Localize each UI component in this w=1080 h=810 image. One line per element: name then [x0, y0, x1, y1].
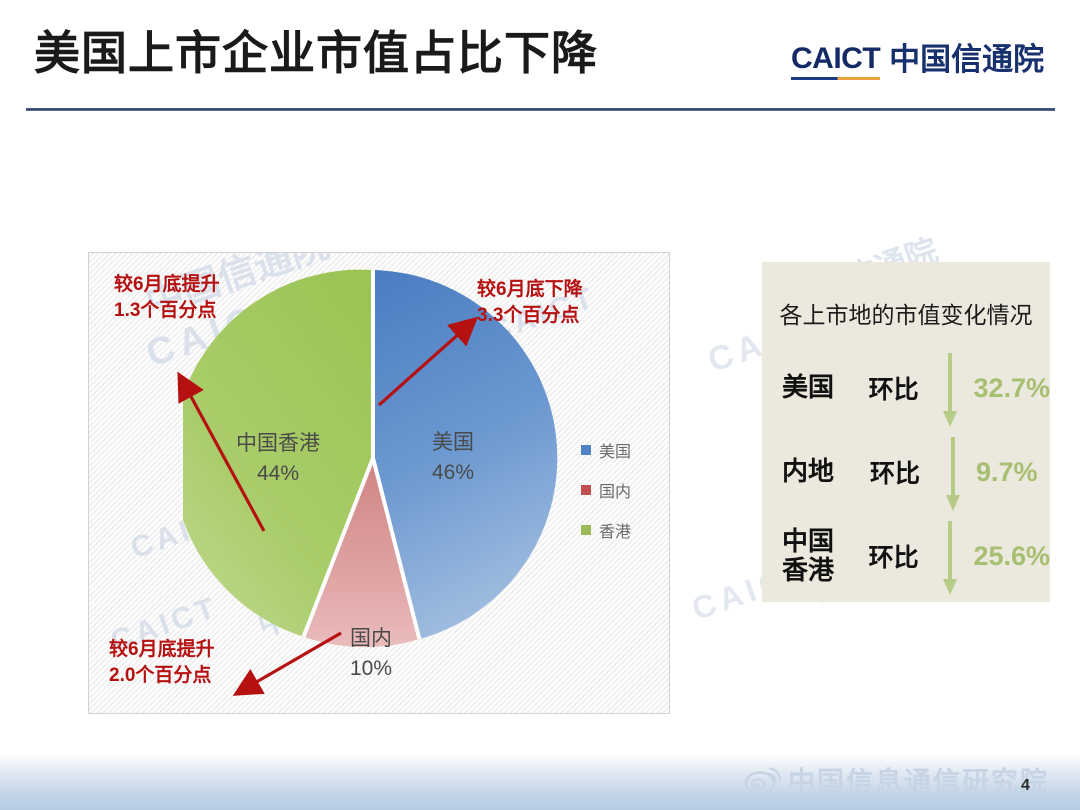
pie-chart-panel: 中国信通院 CAICT CAICT 中国信通院 CAICT 中国信通院 CAIC… [88, 252, 670, 714]
legend-item-us: 美国 [581, 438, 631, 462]
slice-label-hk: 中国香港 44% [219, 429, 337, 490]
annotation-mainland-line2: 2.0个百分点 [109, 663, 215, 689]
legend-swatch-icon [581, 525, 591, 535]
annotation-hk-line2: 1.3个百分点 [114, 298, 220, 324]
annotation-us: 较6月底下降 3.3个百分点 [477, 277, 583, 328]
annotation-hk: 较6月底提升 1.3个百分点 [114, 272, 220, 323]
annotation-us-line2: 3.3个百分点 [477, 303, 583, 329]
legend-label-us: 美国 [599, 438, 631, 462]
title-divider [26, 108, 1055, 111]
down-arrow-icon [944, 435, 970, 509]
down-arrow-icon [941, 351, 967, 425]
row-place-us: 美国 [762, 373, 869, 402]
annotation-hk-line1: 较6月底提升 [114, 272, 220, 298]
chart-legend: 美国 国内 香港 [581, 438, 631, 558]
row-place-hk-line1: 中国 [782, 527, 869, 556]
table-row: 中国 香港 环比 25.6% [762, 514, 1050, 598]
row-place-hk-line2: 香港 [782, 556, 869, 585]
logo-chinese-text: 中国信通院 [889, 44, 1044, 75]
legend-swatch-icon [581, 485, 591, 495]
row-value-hk: 25.6% [967, 541, 1050, 572]
row-value-us: 32.7% [967, 373, 1050, 404]
footer-watermark: 中国信息通信研究院 [745, 760, 1049, 799]
slice-label-mainland: 国内 10% [329, 624, 413, 685]
row-kind-hk: 环比 [869, 538, 942, 574]
annotation-mainland: 较6月底提升 2.0个百分点 [109, 637, 215, 688]
down-arrow-icon [941, 519, 967, 593]
annotation-us-line1: 较6月底下降 [477, 277, 583, 303]
row-place-hk: 中国 香港 [762, 527, 869, 585]
slice-name-mainland: 国内 [350, 627, 392, 650]
legend-label-hk: 香港 [599, 518, 631, 542]
annotation-mainland-line1: 较6月底提升 [109, 637, 215, 663]
slice-name-us: 美国 [432, 431, 474, 454]
value-change-rows: 美国 环比 32.7% 内地 环比 9.7% 中国 [762, 346, 1050, 598]
legend-label-mainland: 国内 [599, 478, 631, 502]
caict-logo: CAICT 中国信通院 [791, 44, 1044, 86]
row-kind-mainland: 环比 [870, 454, 944, 490]
legend-item-mainland: 国内 [581, 478, 631, 502]
slice-label-us: 美国 46% [411, 428, 495, 489]
slice-pct-hk: 44% [219, 459, 337, 489]
logo-latin-text: CAICT [791, 44, 880, 80]
row-kind-us: 环比 [869, 370, 942, 406]
slice-pct-us: 46% [411, 458, 495, 488]
legend-item-hk: 香港 [581, 518, 631, 542]
row-value-mainland: 9.7% [970, 457, 1038, 488]
weibo-icon [745, 765, 781, 795]
table-row: 内地 环比 9.7% [762, 430, 1050, 514]
table-row: 美国 环比 32.7% [762, 346, 1050, 430]
value-change-title: 各上市地的市值变化情况 [776, 296, 1036, 330]
legend-swatch-icon [581, 445, 591, 455]
slice-name-hk: 中国香港 [236, 432, 320, 455]
page-number: 4 [1021, 777, 1030, 795]
row-place-mainland: 内地 [762, 457, 870, 486]
slice-pct-mainland: 10% [329, 654, 413, 684]
footer-watermark-text: 中国信息通信研究院 [788, 760, 1049, 799]
page-title: 美国上市企业市值占比下降 [34, 28, 598, 79]
value-change-panel: 各上市地的市值变化情况 美国 环比 32.7% 内地 环比 9.7% [762, 262, 1050, 602]
